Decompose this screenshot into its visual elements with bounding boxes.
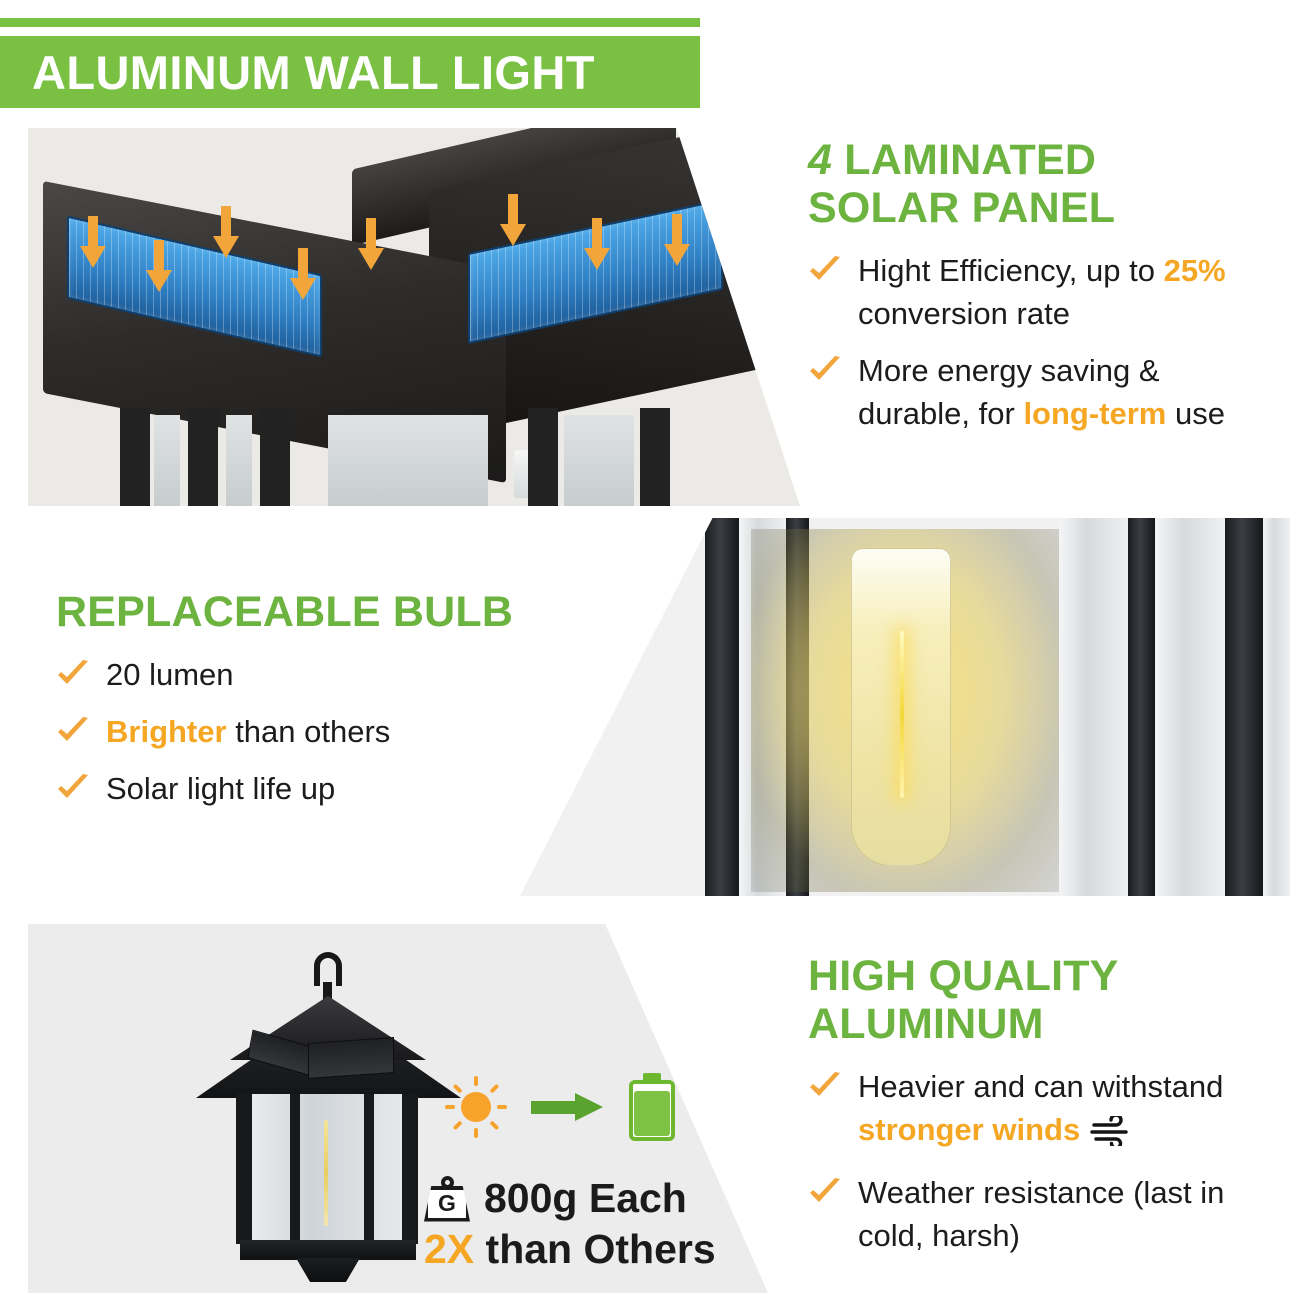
bullet-plain-1: Heavier and can withstand: [858, 1069, 1223, 1104]
check-icon: [808, 1178, 842, 1208]
header-banner: ALUMINUM WALL LIGHT: [0, 36, 700, 108]
lantern-glass: [154, 415, 180, 506]
bullet-plain-2: than others: [227, 714, 391, 749]
bullet-text: Weather resistance (last in cold, harsh): [858, 1172, 1278, 1258]
comparison-rest: than Others: [474, 1226, 715, 1272]
infographic-canvas: ALUMINUM WALL LIGHT: [0, 0, 1290, 1293]
bullet-text: Heavier and can withstand stronger winds: [858, 1066, 1278, 1158]
bulb-glass-pane: [1263, 518, 1290, 896]
bulb-frame-post: [1128, 518, 1155, 896]
bulb-glass-pane: [1155, 518, 1224, 896]
bullet-item: Solar light life up: [56, 768, 536, 811]
bullet-text: More energy saving & durable, for long-t…: [858, 350, 1278, 436]
lantern-mullion: [364, 1094, 374, 1244]
feature-aluminum-title: HIGH QUALITY ALUMINUM: [808, 952, 1278, 1048]
lantern-base: [240, 1240, 416, 1260]
bullet-item: Heavier and can withstand stronger winds: [808, 1066, 1278, 1158]
solar-panel-photo: [28, 128, 800, 506]
bullet-highlight: long-term: [1023, 396, 1166, 431]
bullet-plain-1: Hight Efficiency, up to: [858, 253, 1164, 288]
weight-icon-letter: G: [424, 1190, 470, 1217]
feature-solar-title: 4 LAMINATED SOLAR PANEL: [808, 136, 1278, 232]
solar-charging-icon-row: [445, 1073, 675, 1141]
feature-solar-panel: 4 LAMINATED SOLAR PANEL Hight Efficiency…: [808, 136, 1278, 449]
header-accent-line: [0, 18, 700, 27]
bullet-text: 20 lumen: [106, 654, 234, 697]
bullet-item: Brighter than others: [56, 711, 536, 754]
check-icon: [56, 717, 90, 747]
bullet-highlight: Brighter: [106, 714, 227, 749]
bullet-item: More energy saving & durable, for long-t…: [808, 350, 1278, 436]
lantern-glass: [564, 415, 634, 506]
weight-line: G 800g Each: [424, 1175, 716, 1222]
comparison-multiplier: 2X: [424, 1226, 474, 1272]
weight-stats: G 800g Each 2X than Others: [424, 1175, 716, 1273]
check-icon: [808, 256, 842, 286]
bullet-text: Brighter than others: [106, 711, 390, 754]
feature-aluminum-title-line2: ALUMINUM: [808, 1000, 1044, 1048]
check-icon: [56, 660, 90, 690]
feature-aluminum-title-line1: HIGH QUALITY: [808, 952, 1119, 1000]
lantern-post-mid: [188, 408, 218, 506]
bulb-frame-post: [1225, 518, 1264, 896]
feature-solar-title-number: 4: [808, 136, 832, 184]
lantern-mullion: [290, 1094, 300, 1244]
check-icon: [56, 774, 90, 804]
bullet-text: Solar light life up: [106, 768, 335, 811]
bullet-item: Weather resistance (last in cold, harsh): [808, 1172, 1278, 1258]
lantern-post-right: [640, 408, 670, 506]
lantern-post-left: [120, 408, 150, 506]
bulb-glass-pane: [1059, 518, 1128, 896]
comparison-line: 2X than Others: [424, 1226, 716, 1273]
sun-icon: [445, 1076, 507, 1138]
wind-icon: [1090, 1115, 1136, 1158]
check-icon: [808, 356, 842, 386]
bulb-photo: [520, 518, 1290, 896]
bullet-highlight: stronger winds: [858, 1112, 1080, 1147]
page-title: ALUMINUM WALL LIGHT: [0, 45, 595, 100]
bulb-filament: [900, 631, 904, 797]
bullet-highlight: 25%: [1164, 253, 1226, 288]
lantern-glass: [226, 415, 252, 506]
lantern-post: [528, 408, 558, 506]
lantern-filament: [324, 1120, 328, 1226]
bullet-plain-2: conversion rate: [858, 296, 1070, 331]
weight-icon: G: [424, 1176, 470, 1222]
bullet-plain-2: use: [1166, 396, 1225, 431]
feature-bulb-title: REPLACEABLE BULB: [56, 588, 536, 636]
bullet-plain-1: Weather resistance (last in cold, harsh): [858, 1175, 1224, 1253]
feature-replaceable-bulb: REPLACEABLE BULB 20 lumen Brighter than …: [56, 588, 536, 824]
right-arrow-icon: [531, 1093, 605, 1121]
lantern-glass-wide: [328, 415, 488, 506]
bullet-plain-1: Solar light life up: [106, 771, 335, 806]
hanging-hook: [314, 952, 342, 986]
weight-value: 800g Each: [484, 1175, 687, 1222]
bullet-item: Hight Efficiency, up to 25% conversion r…: [808, 250, 1278, 336]
feature-solar-title-line2: SOLAR PANEL: [808, 184, 1115, 232]
battery-icon: [629, 1073, 675, 1141]
bulb-frame-post: [705, 518, 740, 896]
bullet-item: 20 lumen: [56, 654, 536, 697]
solar-panel-small-right: [308, 1037, 394, 1079]
lantern-foot: [296, 1258, 360, 1282]
feature-solar-title-line1: LAMINATED: [844, 136, 1096, 184]
check-icon: [808, 1072, 842, 1102]
comparison-text: 2X than Others: [424, 1226, 716, 1273]
bullet-plain-1: 20 lumen: [106, 657, 234, 692]
bullet-text: Hight Efficiency, up to 25% conversion r…: [858, 250, 1278, 336]
lantern-post: [260, 408, 290, 506]
feature-high-quality-aluminum: HIGH QUALITY ALUMINUM Heavier and can wi…: [808, 952, 1278, 1271]
